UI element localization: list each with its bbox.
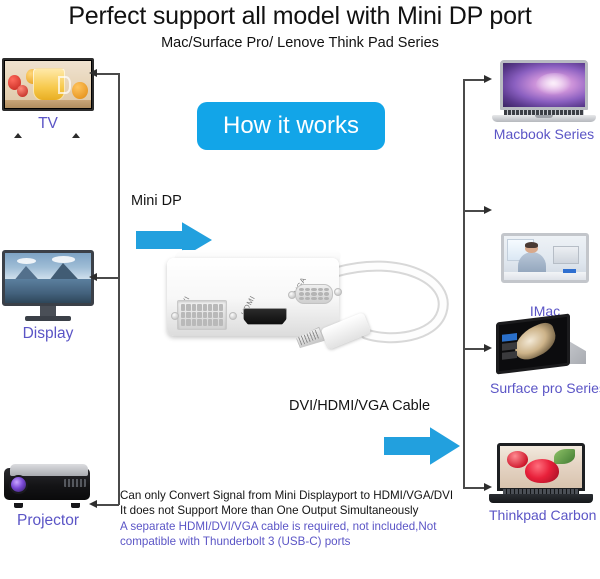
adapter-port-dvi[interactable] — [177, 300, 227, 330]
output-label-display: Display — [2, 325, 94, 343]
mini-dp-adapter: DVI HDMI VGA — [155, 228, 465, 373]
tv-fruit — [72, 82, 87, 99]
source-label-thinkpad: Thinkpad Carbon — [489, 507, 593, 523]
left-branch-projector — [96, 504, 119, 506]
right-arrowhead-imac — [484, 206, 492, 214]
surface-tile — [502, 351, 517, 360]
left-bus-line — [118, 73, 120, 505]
tv-foot — [14, 133, 22, 138]
surface-screen — [499, 317, 567, 371]
cable-arrow-shaft — [384, 437, 431, 455]
adapter-port-hdmi[interactable] — [243, 308, 287, 325]
page-subtitle: Mac/Surface Pro/ Lenove Think Pad Series — [0, 35, 600, 51]
note-line: It does not Support More than One Output… — [120, 503, 480, 518]
macbook-notch — [535, 115, 553, 118]
output-device-tv: TV — [2, 58, 94, 133]
surface-body — [496, 313, 570, 374]
surface-tile — [502, 333, 517, 342]
tv-screen — [5, 61, 91, 108]
thinkpad-lid — [497, 443, 585, 491]
surface-tile — [502, 342, 517, 351]
imac-desk-item — [563, 269, 576, 273]
imac-person-body — [518, 252, 546, 273]
output-device-projector: Projector — [2, 462, 94, 530]
tv-icon — [2, 58, 94, 111]
note-line: A separate HDMI/DVI/VGA cable is require… — [120, 519, 480, 534]
thinkpad-wallpaper-berry — [507, 451, 528, 468]
right-arrowhead-surface — [484, 344, 492, 352]
monitor-stand-base — [25, 316, 71, 321]
monitor-cloud — [17, 258, 36, 264]
note-line: compatible with Thunderbolt 3 (USB-C) po… — [120, 534, 480, 549]
tv-fruit — [17, 85, 28, 97]
source-device-macbook: Macbook Series — [492, 60, 596, 142]
imac-person-hair — [525, 242, 539, 248]
source-label-macbook: Macbook Series — [492, 126, 596, 142]
monitor-icon — [2, 250, 94, 306]
source-label-surface: Surface pro Series — [490, 380, 598, 396]
source-device-surface: Surface pro Series — [490, 318, 598, 396]
note-line: Can only Convert Signal from Mini Displa… — [120, 488, 480, 503]
right-arrowhead-macbook — [484, 75, 492, 83]
how-it-works-badge[interactable]: How it works — [197, 102, 385, 150]
cable-arrow — [384, 427, 460, 465]
projector-icon — [2, 462, 94, 508]
adapter-port-vga[interactable] — [295, 284, 333, 304]
adapter-vga-screw — [334, 288, 342, 296]
notes-block: Can only Convert Signal from Mini Displa… — [120, 488, 480, 550]
adapter-vga-screw — [288, 291, 296, 299]
left-arrowhead-display — [89, 273, 97, 281]
projector-vent — [64, 479, 86, 487]
macbook-lid — [500, 60, 588, 110]
surface-wallpaper — [510, 320, 559, 366]
thinkpad-wallpaper-berry — [525, 459, 559, 483]
output-label-tv: TV — [2, 115, 94, 133]
laptop-icon — [489, 443, 593, 503]
mini-dp-label: Mini DP — [131, 193, 182, 209]
cable-arrow-head — [430, 427, 460, 465]
source-device-imac: IMac — [498, 182, 592, 319]
output-label-projector: Projector — [2, 512, 94, 530]
left-branch-display — [96, 277, 119, 279]
right-arrowhead-thinkpad — [484, 483, 492, 491]
imac-desk-monitor — [553, 246, 580, 265]
surface-start-tiles — [502, 333, 517, 360]
monitor-water — [5, 279, 91, 303]
projector-foot — [71, 503, 80, 508]
left-arrowhead-projector — [89, 500, 97, 508]
macbook-wallpaper-highlight — [536, 73, 574, 98]
tv-foot — [72, 133, 80, 138]
projector-foot — [14, 503, 23, 508]
how-it-works-label: How it works — [223, 112, 359, 140]
tv-table — [5, 100, 91, 108]
monitor-cloud — [52, 256, 74, 263]
right-branch-macbook — [463, 79, 485, 81]
imac-display — [501, 233, 589, 283]
cable-label: DVI/HDMI/VGA Cable — [289, 398, 430, 414]
adapter-dvi-screw — [171, 312, 179, 320]
imac-icon — [498, 233, 592, 299]
output-device-display: Display — [2, 250, 94, 343]
page-title: Perfect support all model with Mini DP p… — [0, 2, 600, 31]
thinkpad-base — [489, 494, 593, 503]
source-device-thinkpad: Thinkpad Carbon — [489, 443, 593, 523]
projector-top-panel — [10, 464, 88, 476]
imac-desk — [504, 272, 586, 280]
right-branch-imac — [463, 210, 485, 212]
right-branch-surface — [463, 348, 485, 350]
monitor-stand-neck — [40, 306, 56, 316]
left-branch-tv — [96, 73, 119, 75]
left-arrowhead-tv — [89, 69, 97, 77]
laptop-icon — [492, 60, 596, 122]
projector-lens — [9, 475, 28, 494]
adapter-dvi-screw — [229, 312, 237, 320]
tv-teacup — [33, 68, 66, 101]
tablet-icon — [490, 318, 588, 376]
